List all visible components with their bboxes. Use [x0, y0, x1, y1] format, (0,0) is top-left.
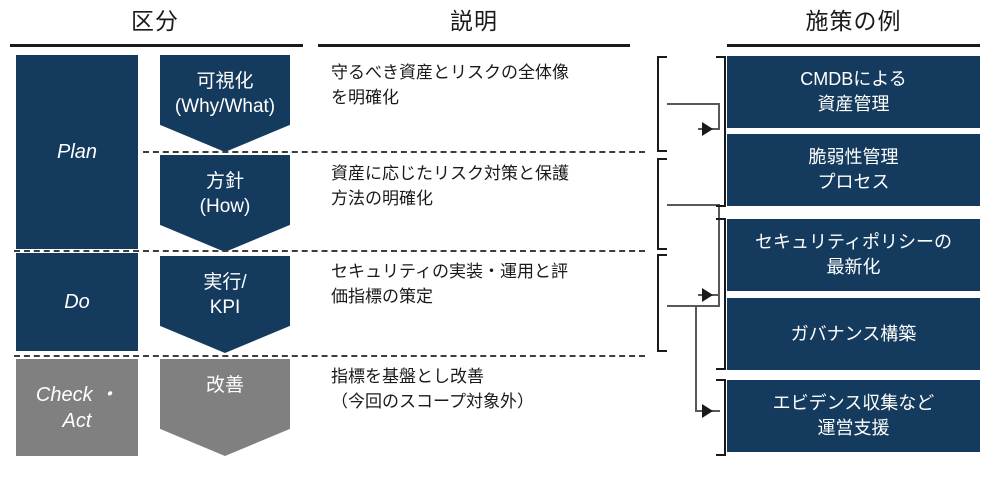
step-chevron-policy: 方針 (How): [160, 155, 290, 252]
measure-box-vulnerability: 脆弱性管理 プロセス: [727, 134, 980, 206]
group-bracket-right-governance: [716, 218, 726, 370]
connector-arrow-group-3: [702, 404, 713, 418]
group-bracket-left-plan-policy: [657, 158, 667, 250]
phase-label-check-act: Check ・ Act: [36, 382, 118, 434]
connector-line-g2-a: [667, 204, 720, 206]
measure-label-vulnerability: 脆弱性管理 プロセス: [809, 145, 899, 195]
row-separator-plan-policy: [143, 151, 645, 153]
step-label-execution-kpi: 実行/ KPI: [203, 256, 246, 320]
measure-label-cmdb: CMDBによる 資産管理: [800, 67, 906, 117]
measure-label-evidence: エビデンス収集など 運営支援: [773, 391, 935, 441]
step-chevron-improvement: 改善: [160, 359, 290, 456]
group-bracket-left-plan-visualization: [657, 56, 667, 152]
header-rule-measures: [727, 44, 980, 47]
connector-line-g4-a: [695, 305, 697, 412]
step-chevron-visualization: 可視化 (Why/What): [160, 55, 290, 152]
row-separator-do-check: [14, 355, 645, 357]
measure-box-governance: ガバナンス構築: [727, 298, 980, 370]
measure-label-security-policy: セキュリティポリシーの 最新化: [755, 230, 952, 280]
group-bracket-right-evidence: [716, 379, 726, 456]
phase-box-plan: Plan: [16, 55, 138, 249]
pdca-measures-diagram: 区分 説明 施策の例 Plan Do Check ・ Act 可視化 (Why/…: [0, 0, 990, 479]
measure-box-cmdb: CMDBによる 資産管理: [727, 56, 980, 128]
header-rule-description: [318, 44, 630, 47]
column-header-measures: 施策の例: [727, 6, 980, 36]
connector-line-g1-a: [667, 103, 720, 105]
connector-line-g3-a: [667, 305, 720, 307]
group-bracket-left-do-execution: [657, 254, 667, 352]
step-label-visualization: 可視化 (Why/What): [175, 55, 275, 119]
column-header-category: 区分: [10, 6, 300, 36]
step-label-improvement: 改善: [206, 359, 244, 398]
phase-label-do: Do: [64, 289, 90, 315]
measure-box-evidence: エビデンス収集など 運営支援: [727, 380, 980, 452]
step-label-policy: 方針 (How): [200, 155, 251, 219]
description-execution-kpi: セキュリティの実装・運用と評 価指標の策定: [331, 259, 636, 309]
header-rule-category: [10, 44, 303, 47]
phase-label-plan: Plan: [57, 139, 97, 165]
description-policy: 資産に応じたリスク対策と保護 方法の明確化: [331, 161, 636, 211]
measure-box-security-policy: セキュリティポリシーの 最新化: [727, 219, 980, 291]
step-chevron-execution-kpi: 実行/ KPI: [160, 256, 290, 353]
phase-box-check-act: Check ・ Act: [16, 359, 138, 456]
connector-arrow-group-2: [702, 288, 713, 302]
column-header-description: 説明: [318, 6, 630, 36]
description-visualization: 守るべき資産とリスクの全体像 を明確化: [331, 60, 636, 110]
measure-label-governance: ガバナンス構築: [791, 322, 917, 347]
group-bracket-right-assets: [716, 56, 726, 207]
row-separator-plan-do: [14, 250, 645, 252]
connector-arrow-group-1: [702, 122, 713, 136]
phase-box-do: Do: [16, 253, 138, 351]
description-improvement: 指標を基盤とし改善 （今回のスコープ対象外）: [331, 364, 636, 414]
